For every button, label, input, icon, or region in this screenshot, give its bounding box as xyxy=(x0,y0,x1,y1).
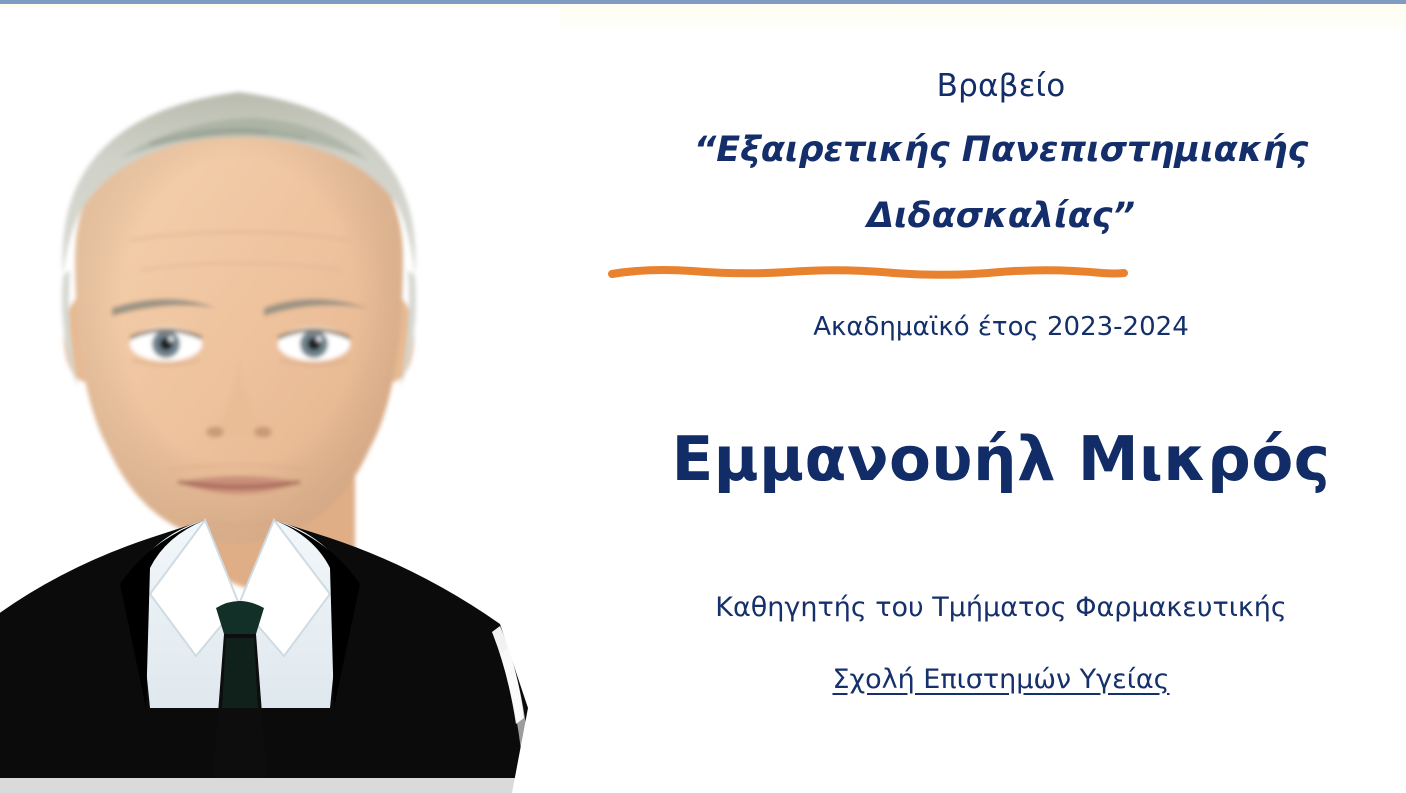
portrait-illustration xyxy=(0,8,560,793)
orange-wavy-divider xyxy=(608,258,1128,284)
award-heading-line-3: Διδασκαλίας” xyxy=(596,196,1406,236)
recipient-role: Καθηγητής του Τμήματος Φαρμακευτικής xyxy=(596,592,1406,623)
portrait-photo xyxy=(0,8,560,793)
recipient-name: Εμμανουήλ Μικρός xyxy=(596,424,1406,495)
recipient-school: Σχολή Επιστημών Υγείας xyxy=(596,664,1406,695)
award-heading-line-1: Βραβείο xyxy=(596,68,1406,104)
academic-year-label: Ακαδημαϊκό έτος 2023-2024 xyxy=(596,312,1406,342)
award-slide: Βραβείο “Εξαιρετικής Πανεπιστημιακής Διδ… xyxy=(0,0,1406,793)
award-heading-line-2: “Εξαιρετικής Πανεπιστημιακής xyxy=(596,130,1406,170)
award-text-column: Βραβείο “Εξαιρετικής Πανεπιστημιακής Διδ… xyxy=(596,0,1406,793)
